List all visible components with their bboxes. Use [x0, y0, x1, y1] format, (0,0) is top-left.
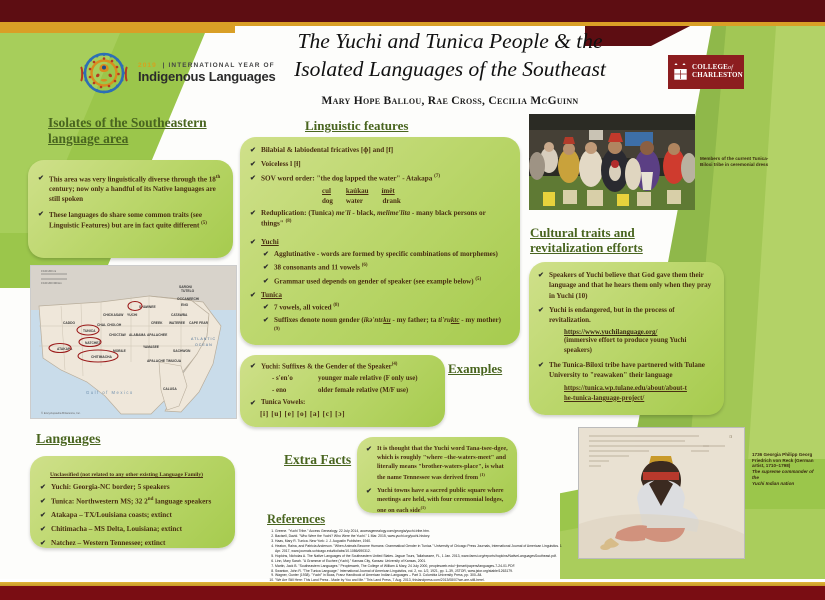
top-photo-caption: Members of the current Tunica-Biloxi tri… [700, 156, 774, 167]
languages-heading: Languages [36, 432, 101, 449]
list-item: Reduplication: (Tunica) me'li - black, m… [250, 208, 508, 229]
yuchi-language-link[interactable]: https://www.yuchilanguage.org/ [564, 329, 714, 336]
list-item: Voiceless l [ɬ] [250, 159, 508, 170]
svg-text:NATCHEZ: NATCHEZ [85, 341, 101, 345]
tunica-biloxi-powwow-photo [529, 114, 695, 210]
references-heading: References [267, 512, 325, 527]
gloss-cell: dog [322, 196, 346, 206]
gloss-cell: drank [381, 196, 401, 206]
svg-text:CHICKASAW: CHICKASAW [103, 313, 124, 317]
decor-gold-stripe-right [205, 22, 825, 26]
svg-text:SACHWON: SACHWON [173, 349, 191, 353]
isolates-heading: Isolates of the Southeastern language ar… [48, 115, 238, 147]
svg-text:0 100 200 mi: 0 100 200 mi [41, 269, 56, 273]
caption-l1: 1736 Georgia Philipp Georg [752, 452, 820, 458]
example-row: - enoolder female relative (M/F use) [272, 385, 435, 397]
svg-text:CHITIMACHA: CHITIMACHA [91, 355, 112, 359]
author-list: Mary Hope Ballou, Rae Cross, Cecilia McG… [250, 95, 650, 107]
isolates-box: This area was very linguistically divers… [28, 160, 233, 258]
examples-title-sup: (4) [392, 362, 398, 367]
gloss-cell: cul [322, 187, 346, 196]
gloss-cell: kaúkau [346, 187, 382, 196]
svg-text:APALACHEE: APALACHEE [147, 333, 168, 337]
cultural-heading-l1: Cultural traits and [530, 225, 635, 240]
decor-bottom-border [0, 586, 825, 600]
college-of-charleston-logo: COLLEGEof CHARLESTON [668, 55, 744, 89]
list-item: Yuchi towns have a sacred public square … [366, 487, 508, 516]
tunica-vowels: [i] [u] [e] [o] [a] [c] [ɔ] [260, 409, 435, 418]
list-item: The Tunica-Biloxi tribe have partnered w… [538, 360, 714, 381]
svg-text:OCCANEECHI: OCCANEECHI [177, 297, 199, 301]
table-row: cul kaúkau ímët [322, 187, 402, 196]
examples-box: Yuchi: Suffixes & the Gender of the Spea… [240, 355, 445, 427]
svg-text:TUNICA: TUNICA [83, 329, 96, 333]
linguistic-features-heading: Linguistic features [305, 118, 408, 133]
list-item: Yuchi: Georgia-NC border; 5 speakers [40, 482, 225, 493]
list-item: Speakers of Yuchi believe that God gave … [538, 270, 714, 301]
list-item: Tunica [250, 291, 508, 299]
college-line2: CHARLESTON [692, 72, 743, 80]
reference-item: Hopkins, Nicholas A. The Native Language… [275, 554, 566, 559]
extra-facts-box: It is thought that the Yuchi word Tana-t… [357, 437, 517, 513]
list-item: Grammar used depends on gender of speake… [263, 276, 508, 287]
list-item: Yuchi is endangered, but in the process … [538, 305, 714, 326]
list-item: Agglutinative - words are formed by spec… [263, 249, 508, 259]
iyil-emblem-icon [78, 47, 130, 99]
list-item: Yuchi: Suffixes & the Gender of the Spea… [250, 362, 435, 370]
cultural-heading-l2: revitalization efforts [530, 240, 643, 255]
list-item: It is thought that the Yuchi word Tana-t… [366, 445, 508, 483]
svg-text:ALABAMA: ALABAMA [129, 333, 146, 337]
table-row: dog water drank [322, 196, 402, 206]
examples-title: Yuchi: Suffixes & the Gender of the Spea… [261, 363, 392, 370]
bottom-photo-caption: 1736 Georgia Philipp Georg Friedrich von… [752, 452, 820, 486]
isolates-heading-l1: Isolates of the Southeastern [48, 115, 207, 130]
poster-canvas: 2019 | INTERNATIONAL YEAR OF Indigenous … [0, 0, 825, 600]
title-line-2: Isolated Languages of the Southeast [250, 56, 650, 84]
languages-subheading: Unclassified (not related to any other e… [50, 472, 225, 478]
page-title: The Yuchi and Tunica People & the Isolat… [250, 28, 650, 83]
tunica-project-link-line1[interactable]: https://tunica.wp.tulane.edu/about/about… [564, 384, 714, 394]
linguistic-features-box: Bilabial & labiodental fricatives [ɸ] an… [240, 137, 520, 345]
reference-item: "We Are Still Here: This Land Press - Ma… [275, 578, 566, 583]
list-item: Bilabial & labiodental fricatives [ɸ] an… [250, 145, 508, 156]
list-item: Natchez – Western Tennessee; extinct [40, 538, 225, 549]
svg-text:0 100 200 300 km: 0 100 200 300 km [41, 281, 62, 285]
svg-text:WATEREE: WATEREE [169, 321, 186, 325]
list-item: These languages do share some common tra… [38, 210, 221, 230]
reference-item: Heaton, Raina, and Patricia Anderson. "W… [275, 544, 566, 554]
svg-text:ATLANTIC: ATLANTIC [191, 337, 216, 341]
list-item: This area was very linguistically divers… [38, 174, 221, 205]
svg-text:/3: /3 [729, 434, 732, 439]
svg-text:APALACHE TIMUCUA: APALACHE TIMUCUA [147, 359, 182, 363]
extra-facts-heading: Extra Facts [284, 452, 351, 468]
list-item: Atakapa – TX/Louisiana coasts; extinct [40, 510, 225, 521]
cultural-traits-heading: Cultural traits and revitalization effor… [530, 225, 710, 256]
svg-text:ENO: ENO [181, 303, 189, 307]
list-item: 7 vowels, all voiced (8) [263, 302, 508, 313]
gloss-cell: water [346, 196, 382, 206]
decor-top-border [0, 0, 825, 22]
yuchi-link-note: (immersive effort to produce young Yuchi… [564, 336, 714, 355]
examples-heading: Examples [448, 361, 502, 376]
references-list: Greene. "Yuchi Tribe." Access Genealogy.… [266, 529, 566, 583]
cultural-traits-box: Speakers of Yuchi believe that God gave … [529, 262, 724, 415]
list-item: 38 consonants and 11 vowels (6) [263, 262, 508, 273]
languages-box: Unclassified (not related to any other e… [30, 456, 235, 548]
svg-text:CHAL CHOLOH: CHAL CHOLOH [97, 323, 122, 327]
svg-text:CAPE FEAR: CAPE FEAR [189, 321, 209, 325]
svg-text:TUTELO: TUTELO [181, 289, 195, 293]
svg-text:YAMASEE: YAMASEE [143, 345, 160, 349]
svg-text:CHOCTAW: CHOCTAW [109, 333, 127, 337]
tunica-project-link-line2[interactable]: he-tunica-language-project/ [564, 394, 714, 404]
example-row: - s'en'oyounger male relative (F only us… [272, 373, 435, 385]
von-reck-illustration: /3 [578, 427, 745, 559]
svg-text:CADDO: CADDO [63, 321, 76, 325]
gloss-cell: ímët [381, 187, 401, 196]
isolates-heading-l2: language area [48, 131, 128, 146]
iyil-year: 2019 [138, 62, 157, 69]
list-item: Tunica Vowels: [250, 399, 435, 406]
list-item: Tunica: Northwestern MS; 32 2nd language… [40, 496, 225, 507]
caption-l5: Yuchi Indian nation [752, 481, 820, 487]
list-item: Suffixes denote noun gender (ikǝ'ntɛku -… [263, 315, 508, 336]
title-line-1: The Yuchi and Tunica People & the [250, 28, 650, 56]
college-name: COLLEGEof CHARLESTON [692, 64, 743, 79]
caption-l4: The supreme commander of the [752, 469, 820, 480]
decor-gold-stripe-left [0, 22, 235, 33]
svg-text:CREEK: CREEK [151, 321, 163, 325]
svg-text:OCEAN: OCEAN [195, 343, 213, 347]
gloss-table: cul kaúkau ímët dog water drank [322, 187, 402, 206]
southeast-language-map: SARONITUTELO OCCANEECHIENO CATAWBAWATERE… [30, 265, 237, 419]
map-credit: © Encyclopædia Britannica, Inc. [41, 411, 81, 415]
list-item: Chitimacha – MS Delta, Louisiana; extinc… [40, 524, 225, 535]
svg-text:CALUSA: CALUSA [163, 387, 177, 391]
crest-icon [673, 63, 688, 82]
svg-text:CATAWBA: CATAWBA [171, 313, 188, 317]
svg-text:Gulf of Mexico: Gulf of Mexico [86, 390, 134, 395]
list-item: Yuchi [250, 238, 508, 246]
list-item: SOV word order: "the dog lapped the wate… [250, 173, 508, 184]
svg-text:YUCHI: YUCHI [127, 313, 137, 317]
